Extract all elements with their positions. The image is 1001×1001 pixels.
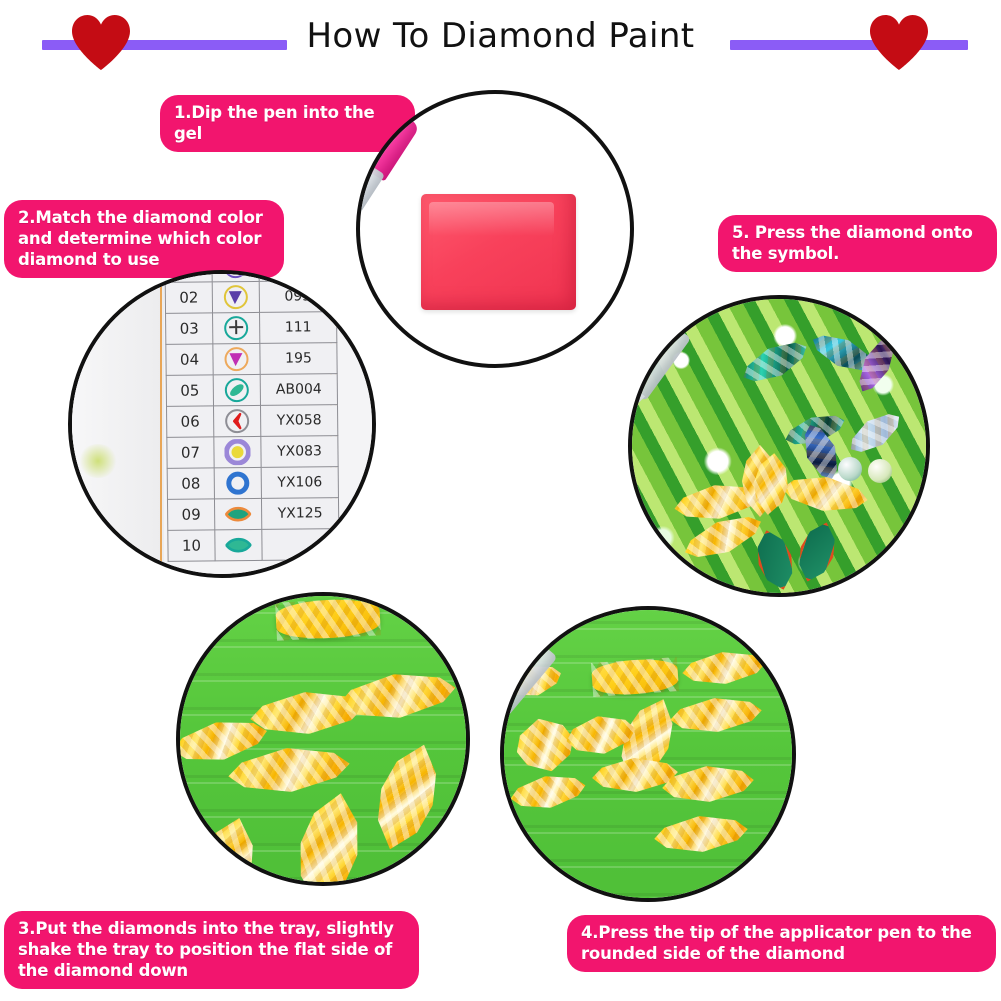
chart-guide-line-left: [160, 274, 162, 574]
canvas-print-blob-green: [78, 444, 118, 478]
canvas-fabric: [72, 274, 164, 574]
color-chart-number: 02: [165, 282, 212, 313]
leaf-icon: [214, 498, 261, 529]
color-chart-number: 03: [166, 313, 213, 344]
color-chart-row: 07YX083: [167, 436, 338, 469]
color-chart-code: YX083: [261, 436, 338, 468]
color-chart-code: YX106: [261, 467, 338, 499]
color-chart-row: 08YX106: [167, 467, 338, 500]
canvas-print-blob-teal: [72, 519, 106, 545]
slash-oval-icon: [213, 374, 260, 405]
gel-pad: [421, 194, 576, 310]
page-header: How To Diamond Paint: [0, 0, 1001, 80]
step-3-label: 3.Put the diamonds into the tray, slight…: [4, 911, 419, 989]
color-chart-row: 03111: [166, 312, 337, 345]
donut-dot-icon: [214, 436, 261, 467]
color-chart-row: 02093: [165, 281, 336, 314]
color-chart-row: 04195: [166, 343, 337, 376]
chevron-left-icon: [214, 405, 261, 436]
color-chart-number: 06: [167, 406, 214, 437]
color-chart-code: AB004: [260, 374, 337, 406]
ring-icon: [214, 467, 261, 498]
color-chart-code: YX058: [260, 405, 337, 437]
color-chart-code: YX125: [261, 498, 338, 530]
color-chart-number: 07: [167, 437, 214, 468]
color-chart-row: 05AB004: [166, 374, 337, 407]
diamond-1: [275, 597, 381, 640]
plus-icon: [213, 312, 260, 343]
step-2-label: 2.Match the diamond color and determine …: [4, 200, 284, 278]
color-chart-row: 06YX058: [167, 405, 338, 438]
color-chart-code: 195: [260, 343, 337, 375]
photo-step-2-color-chart: 0102002093031110419505AB00406YX05807YX08…: [68, 270, 376, 578]
photo-2-content: 0102002093031110419505AB00406YX05807YX08…: [72, 274, 372, 574]
stone-round-1: [838, 457, 862, 481]
color-chart-row: 09YX125: [167, 498, 338, 531]
step-4-label: 4.Press the tip of the applicator pen to…: [567, 915, 996, 972]
triangle-icon: [213, 343, 260, 374]
triangle-icon: [212, 281, 259, 312]
color-chart-number: 08: [167, 468, 214, 499]
color-chart-number: 05: [166, 375, 213, 406]
color-chart-code: [262, 529, 339, 561]
photo-3-content: [180, 596, 466, 882]
page-title: How To Diamond Paint: [0, 16, 1001, 56]
photo-step-1-pen-in-gel: [356, 90, 634, 368]
leaf-icon: [215, 529, 262, 560]
photo-5-content: [632, 299, 926, 593]
diamond-1: [591, 657, 679, 697]
color-chart-code: 111: [260, 312, 337, 344]
photo-step-4-pen-presses-diamond: [500, 606, 796, 902]
photo-1-content: [360, 94, 630, 364]
stone-round-2: [868, 459, 892, 483]
step-5-label: 5. Press the diamond onto the symbol.: [718, 215, 997, 272]
color-chart-row: 10: [168, 529, 339, 562]
color-chart-number: 04: [166, 344, 213, 375]
color-chart-table: 0102002093031110419505AB00406YX05807YX08…: [164, 270, 339, 562]
color-chart-number: 09: [167, 499, 214, 530]
infographic-page: How To Diamond Paint 1.Dip the pen into …: [0, 0, 1001, 1001]
photo-step-5-press-onto-symbol: [628, 295, 930, 597]
color-chart-code: 093: [259, 281, 336, 313]
photo-4-content: [504, 610, 792, 898]
photo-step-3-diamonds-in-tray: [176, 592, 470, 886]
color-chart-number: 10: [168, 530, 215, 561]
